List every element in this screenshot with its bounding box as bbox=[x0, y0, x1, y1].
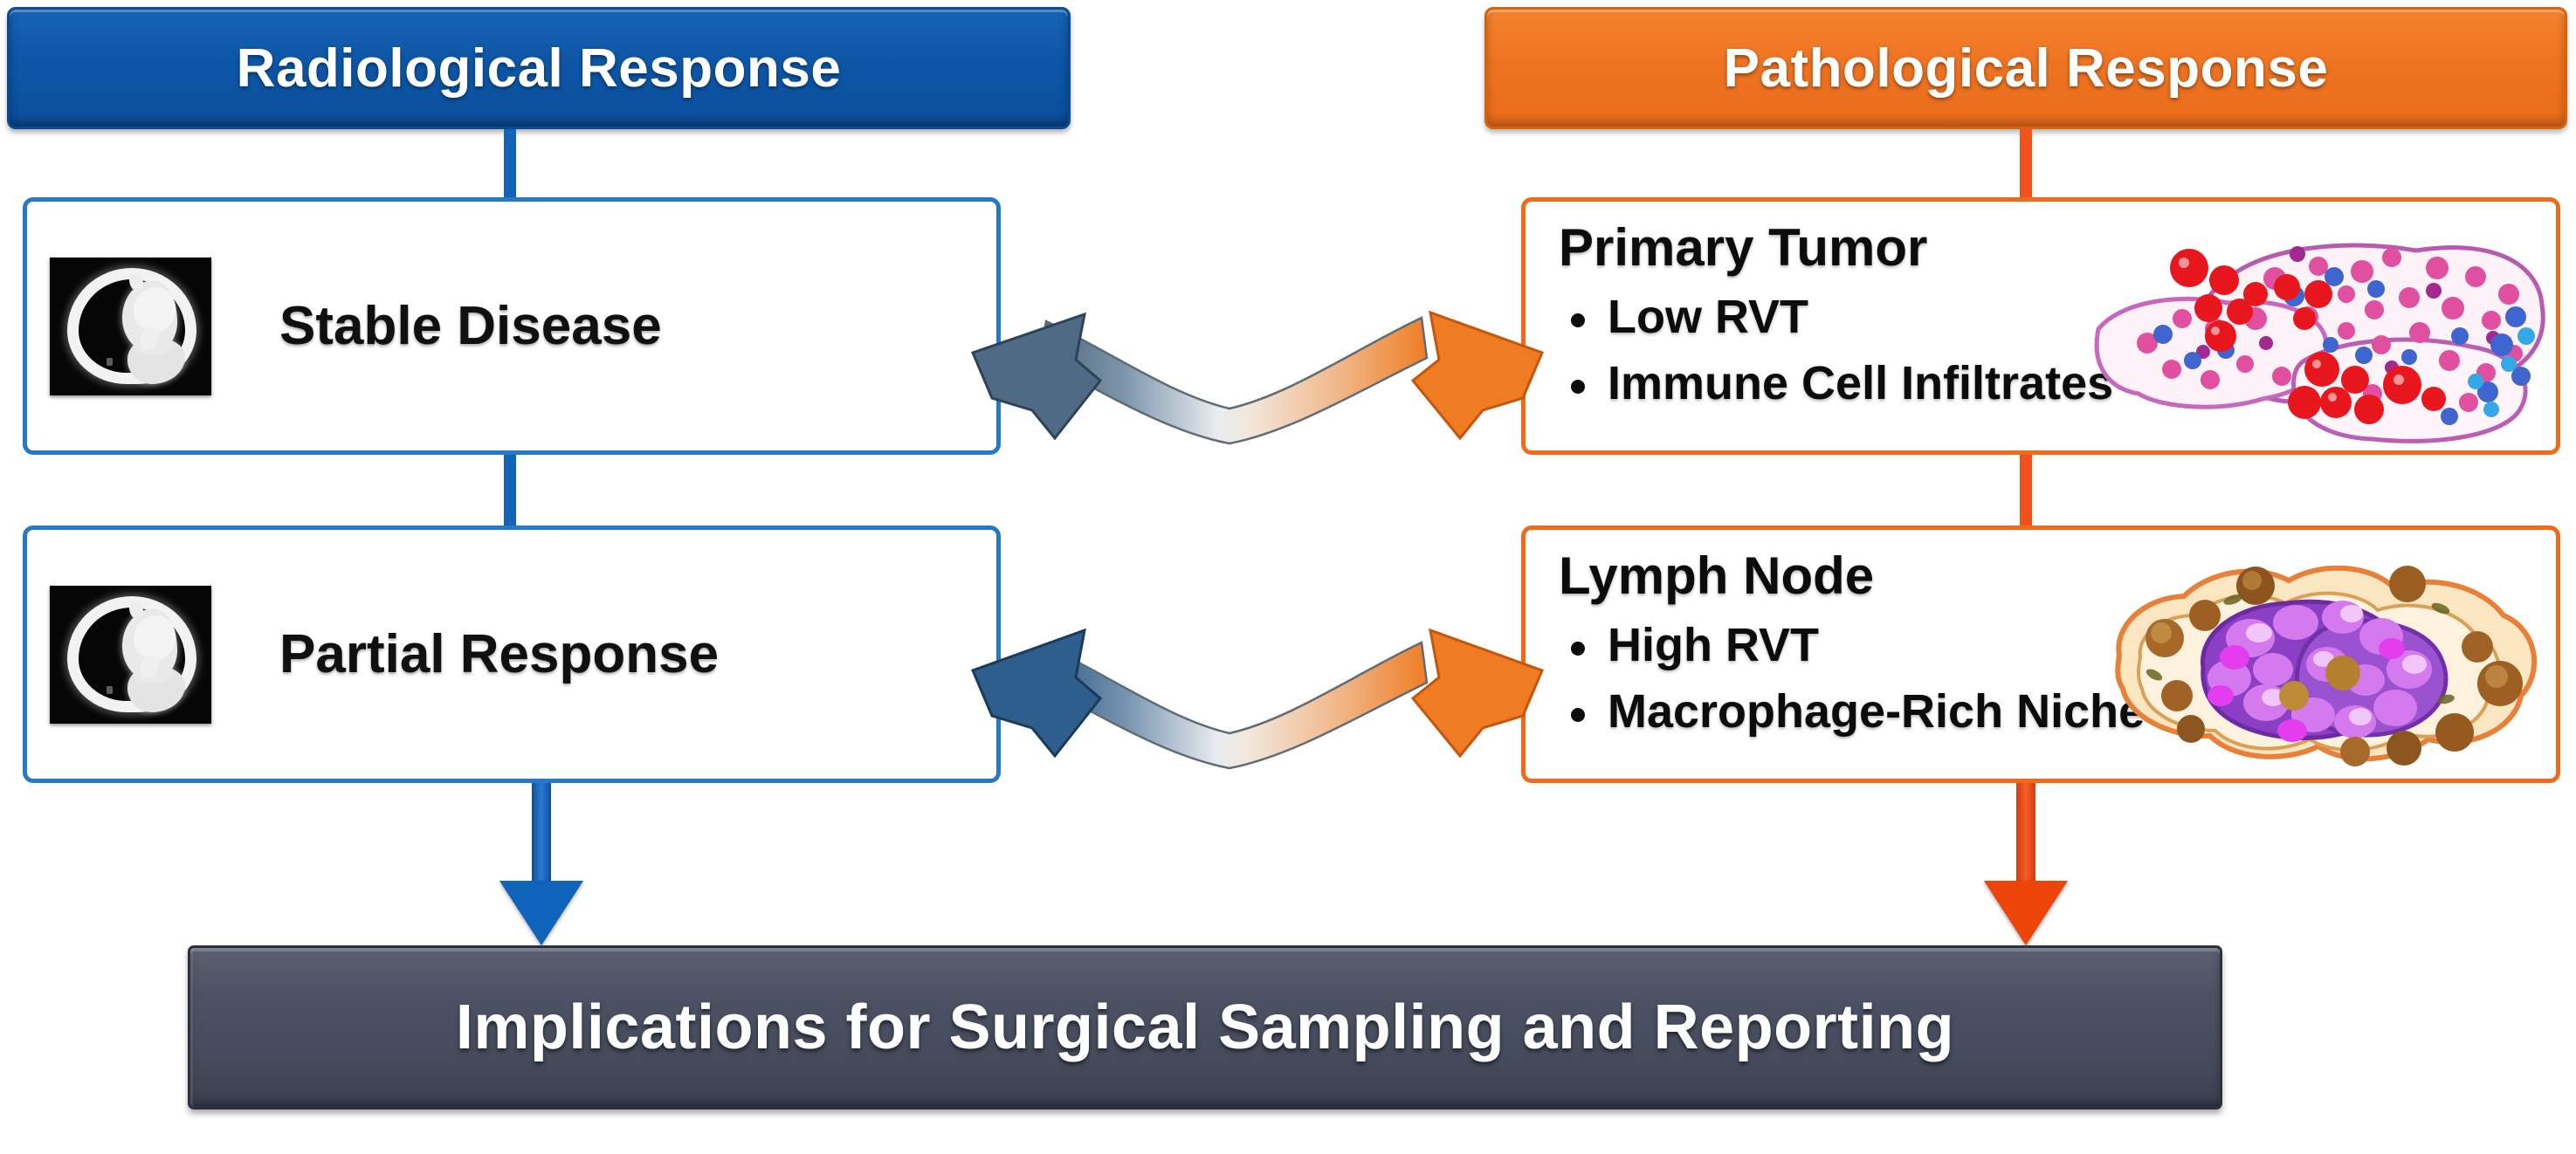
node-primary-tumor-bullets: Low RVT Immune Cell Infiltrates bbox=[1559, 290, 2113, 410]
connector-stable-disease-to-partial-response bbox=[504, 454, 516, 525]
node-primary-tumor[interactable]: Primary Tumor Low RVT Immune Cell Infilt… bbox=[1521, 197, 2560, 455]
node-partial-response-label: Partial Response bbox=[279, 623, 719, 685]
list-item: Low RVT bbox=[1559, 290, 2113, 344]
connector-pathological-to-primary-tumor bbox=[2020, 129, 2032, 197]
list-item: Immune Cell Infiltrates bbox=[1559, 356, 2113, 410]
tumor-histology-immune-infiltrate-icon bbox=[2084, 214, 2556, 451]
list-item: Macrophage-Rich Niche bbox=[1559, 684, 2145, 738]
header-pathological-response: Pathological Response bbox=[1484, 7, 2567, 129]
bidirectional-arrow-partial-response-lymph-node bbox=[952, 587, 1563, 787]
node-stable-disease-label: Stable Disease bbox=[279, 295, 662, 357]
node-stable-disease[interactable]: Stable Disease bbox=[23, 197, 1001, 455]
node-lymph-node-title: Lymph Node bbox=[1559, 546, 2145, 606]
node-primary-tumor-title: Primary Tumor bbox=[1559, 217, 2113, 278]
connector-primary-tumor-to-lymph-node bbox=[2020, 454, 2032, 525]
list-item: High RVT bbox=[1559, 618, 2145, 672]
node-lymph-node[interactable]: Lymph Node High RVT Macrophage-Rich Nich… bbox=[1521, 525, 2560, 783]
header-pathological-label: Pathological Response bbox=[1724, 38, 2329, 100]
header-radiological-response: Radiological Response bbox=[7, 7, 1071, 129]
ct-scan-chest-axial-icon bbox=[50, 258, 211, 395]
node-partial-response[interactable]: Partial Response bbox=[23, 525, 1001, 783]
ct-scan-chest-axial-icon bbox=[50, 586, 211, 724]
connector-radiological-to-stable-disease bbox=[504, 129, 516, 197]
node-lymph-node-bullets: High RVT Macrophage-Rich Niche bbox=[1559, 618, 2145, 738]
connector-arrow-radiological-to-implications bbox=[493, 783, 589, 945]
node-implications-banner[interactable]: Implications for Surgical Sampling and R… bbox=[188, 945, 2222, 1109]
header-radiological-label: Radiological Response bbox=[237, 38, 842, 100]
bidirectional-arrow-stable-disease-primary-tumor bbox=[952, 262, 1563, 463]
connector-arrow-pathological-to-implications bbox=[1978, 783, 2074, 945]
node-implications-label: Implications for Surgical Sampling and R… bbox=[456, 992, 1954, 1063]
lymph-node-macrophage-niche-icon bbox=[2093, 542, 2556, 780]
diagram-canvas: Radiological Response Pathological Respo… bbox=[0, 0, 2576, 1154]
